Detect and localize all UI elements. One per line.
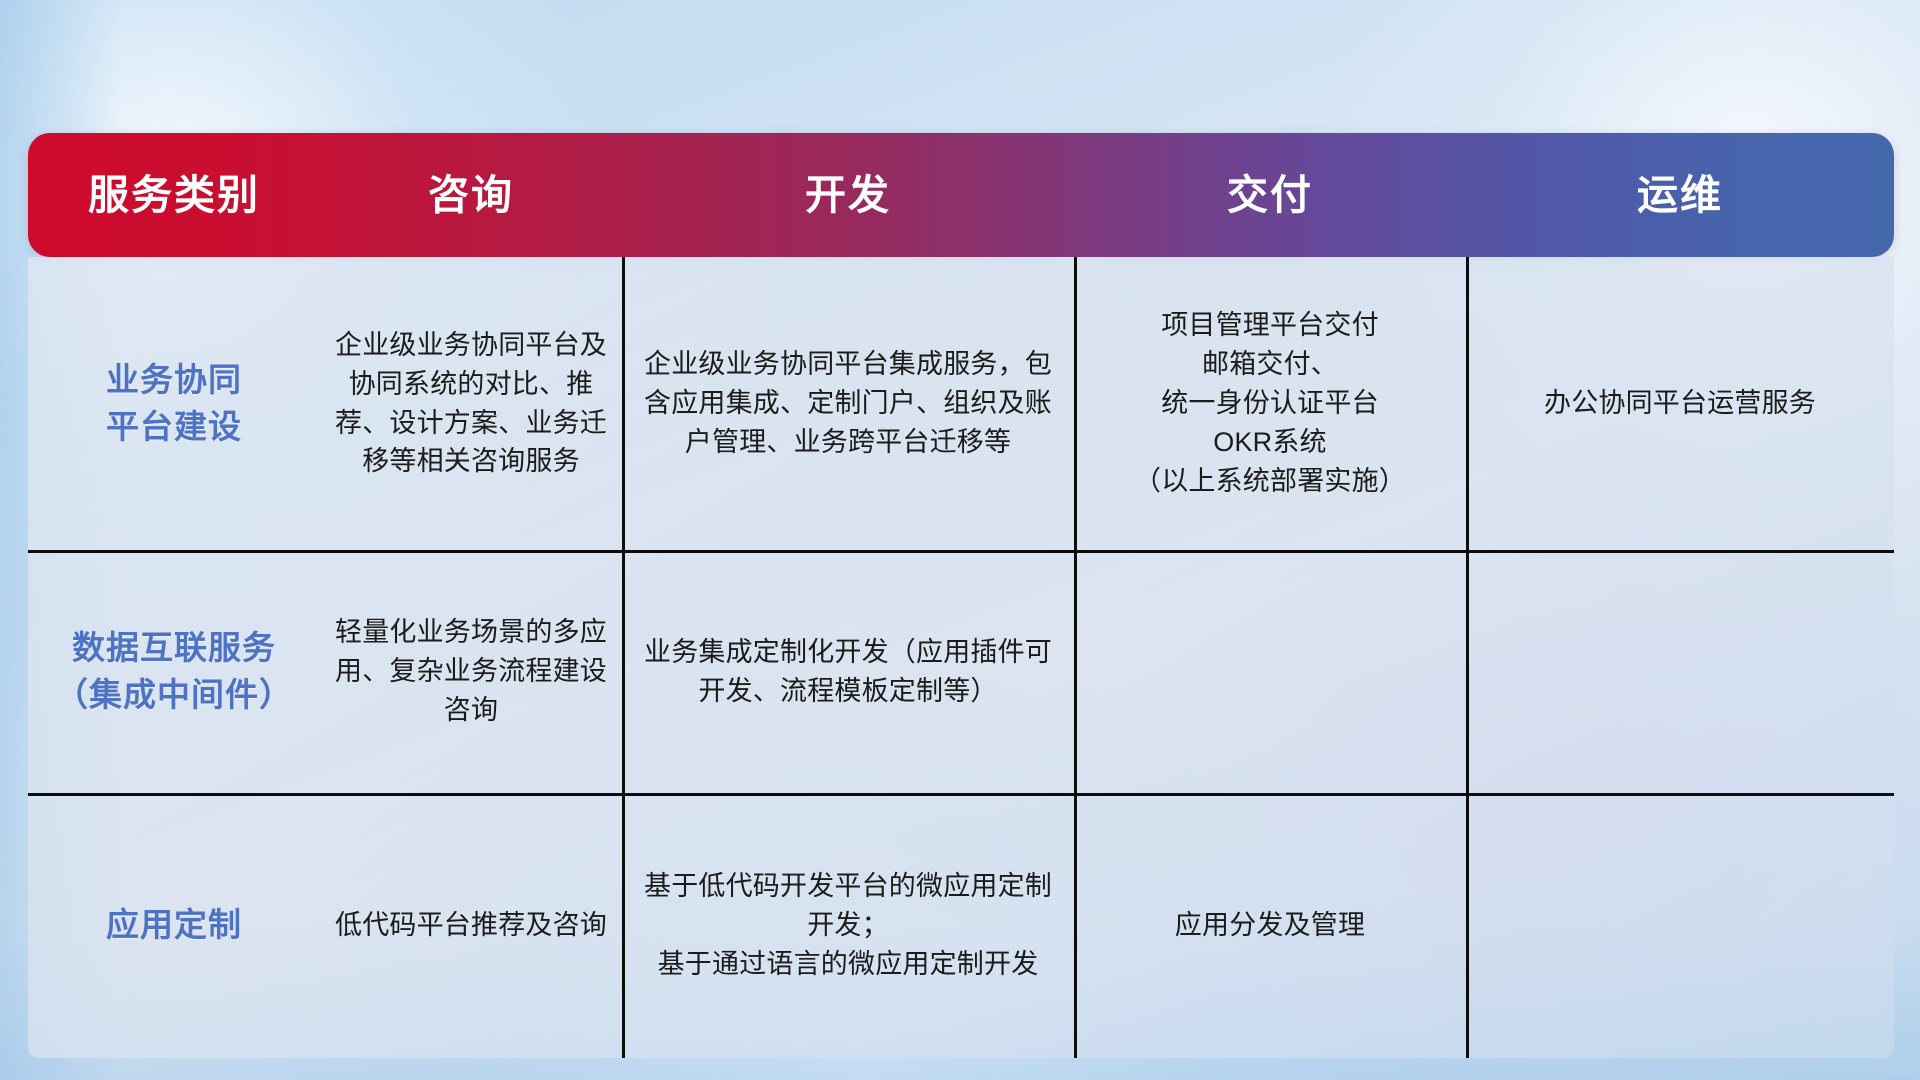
table-header-cell-operations: 运维 bbox=[1466, 175, 1894, 216]
table-header-cell-delivery: 交付 bbox=[1074, 175, 1466, 216]
table-header-cell-category: 服务类别 bbox=[28, 175, 320, 216]
row-label-text: 业务协同平台建设 bbox=[106, 357, 242, 451]
cell-operations bbox=[1466, 550, 1894, 793]
row-label-cell: 应用定制 bbox=[28, 793, 320, 1058]
cell-development: 企业级业务协同平台集成服务，包含应用集成、定制门户、组织及账户管理、业务跨平台迁… bbox=[622, 257, 1074, 550]
row-label-cell: 数据互联服务（集成中间件） bbox=[28, 550, 320, 793]
cell-text: 基于低代码开发平台的微应用定制开发；基于通过语言的微应用定制开发 bbox=[636, 867, 1060, 984]
cell-text: 轻量化业务场景的多应用、复杂业务流程建设咨询 bbox=[334, 613, 608, 730]
cell-delivery bbox=[1074, 550, 1466, 793]
service-matrix-table: 服务类别 咨询 开发 交付 运维 业务协同平台建设 企业级业务协同平台及协同系统… bbox=[28, 133, 1894, 1058]
table-row: 应用定制 低代码平台推荐及咨询 基于低代码开发平台的微应用定制开发；基于通过语言… bbox=[28, 793, 1894, 1058]
table-header-cell-development: 开发 bbox=[622, 175, 1074, 216]
row-label-cell: 业务协同平台建设 bbox=[28, 257, 320, 550]
cell-development: 业务集成定制化开发（应用插件可开发、流程模板定制等） bbox=[622, 550, 1074, 793]
cell-text: 企业级业务协同平台及协同系统的对比、推荐、设计方案、业务迁移等相关咨询服务 bbox=[334, 326, 608, 482]
cell-text: 项目管理平台交付邮箱交付、统一身份认证平台OKR系统（以上系统部署实施） bbox=[1134, 306, 1406, 500]
cell-text: 业务集成定制化开发（应用插件可开发、流程模板定制等） bbox=[636, 633, 1060, 711]
cell-text: 办公协同平台运营服务 bbox=[1544, 384, 1816, 423]
cell-consulting: 企业级业务协同平台及协同系统的对比、推荐、设计方案、业务迁移等相关咨询服务 bbox=[320, 257, 622, 550]
cell-consulting: 低代码平台推荐及咨询 bbox=[320, 793, 622, 1058]
cell-text: 应用分发及管理 bbox=[1175, 906, 1365, 945]
cell-operations bbox=[1466, 793, 1894, 1058]
table-header-cell-consulting: 咨询 bbox=[320, 175, 622, 216]
row-label-text: 应用定制 bbox=[106, 902, 242, 949]
cell-development: 基于低代码开发平台的微应用定制开发；基于通过语言的微应用定制开发 bbox=[622, 793, 1074, 1058]
cell-text: 低代码平台推荐及咨询 bbox=[335, 906, 607, 945]
cell-delivery: 项目管理平台交付邮箱交付、统一身份认证平台OKR系统（以上系统部署实施） bbox=[1074, 257, 1466, 550]
table-row: 数据互联服务（集成中间件） 轻量化业务场景的多应用、复杂业务流程建设咨询 业务集… bbox=[28, 550, 1894, 793]
table-header-row: 服务类别 咨询 开发 交付 运维 bbox=[28, 133, 1894, 257]
cell-operations: 办公协同平台运营服务 bbox=[1466, 257, 1894, 550]
cell-delivery: 应用分发及管理 bbox=[1074, 793, 1466, 1058]
cell-text: 企业级业务协同平台集成服务，包含应用集成、定制门户、组织及账户管理、业务跨平台迁… bbox=[636, 345, 1060, 462]
table-body: 业务协同平台建设 企业级业务协同平台及协同系统的对比、推荐、设计方案、业务迁移等… bbox=[28, 257, 1894, 1058]
table-row: 业务协同平台建设 企业级业务协同平台及协同系统的对比、推荐、设计方案、业务迁移等… bbox=[28, 257, 1894, 550]
cell-consulting: 轻量化业务场景的多应用、复杂业务流程建设咨询 bbox=[320, 550, 622, 793]
row-label-text: 数据互联服务（集成中间件） bbox=[55, 625, 293, 719]
